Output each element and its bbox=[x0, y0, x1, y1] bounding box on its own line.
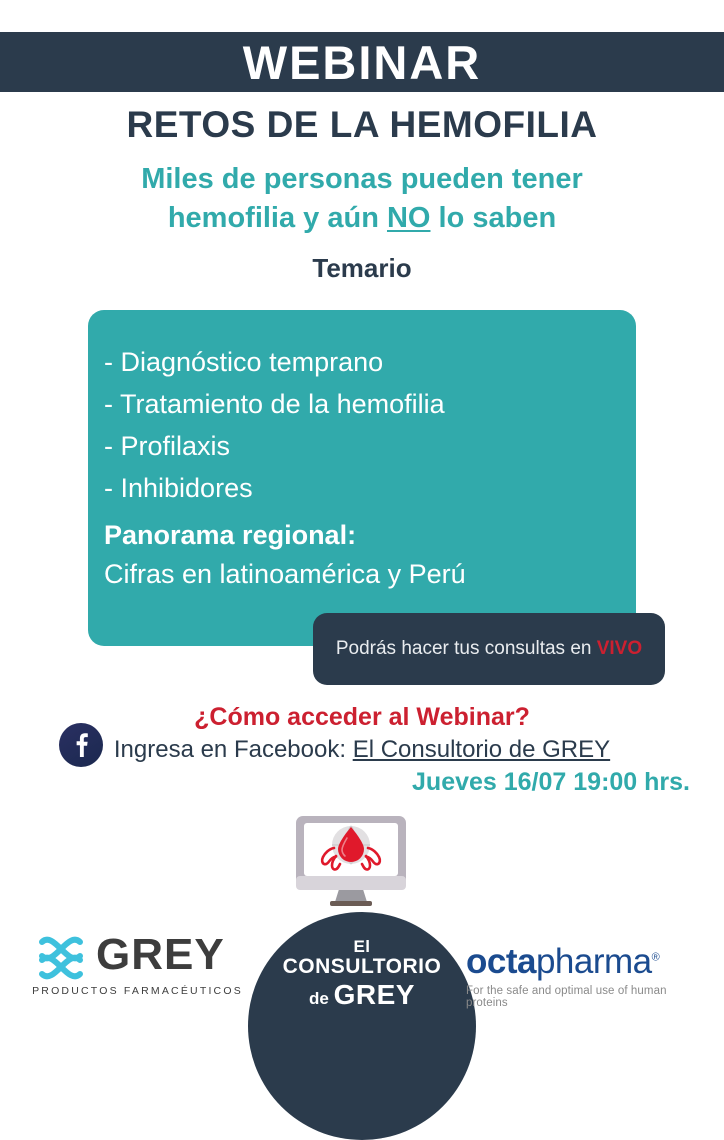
subtitle-line-2-after: lo saben bbox=[430, 202, 556, 234]
access-instruction: Ingresa en Facebook: El Consultorio de G… bbox=[0, 736, 724, 764]
subtitle-line-2-before: hemofilia y aún bbox=[168, 202, 387, 234]
callout-text: Podrás hacer tus consultas en VIVO bbox=[336, 638, 642, 660]
callout-highlight: VIVO bbox=[597, 638, 642, 659]
event-datetime: Jueves 16/07 19:00 hrs. bbox=[0, 768, 690, 797]
agenda-subsection-title: Panorama regional: bbox=[104, 515, 636, 556]
registered-trademark-icon: ® bbox=[652, 951, 660, 963]
octapharma-word-light: pharma bbox=[536, 942, 652, 981]
octapharma-word-bold: octa bbox=[466, 942, 536, 981]
badge-line-1: El bbox=[248, 938, 476, 956]
octapharma-tagline: For the safe and optimal use of human pr… bbox=[466, 985, 706, 1009]
facebook-page-name[interactable]: El Consultorio de GREY bbox=[353, 736, 610, 763]
page-title: RETOS DE LA HEMOFILIA bbox=[0, 104, 724, 146]
grey-tagline: PRODUCTOS FARMACÉUTICOS bbox=[30, 985, 245, 997]
webinar-banner: WEBINAR bbox=[0, 32, 724, 92]
callout-text-before: Podrás hacer tus consultas en bbox=[336, 638, 597, 659]
badge-line-3: de GREY bbox=[248, 980, 476, 1010]
subtitle-line-1: Miles de personas pueden tener bbox=[141, 163, 583, 195]
badge-brand: GREY bbox=[334, 979, 415, 1010]
agenda-item: - Tratamiento de la hemofilia bbox=[104, 384, 636, 426]
badge-line-3-prefix: de bbox=[309, 989, 334, 1008]
grey-wordmark: GREY bbox=[96, 930, 225, 980]
badge-line-2: CONSULTORIO bbox=[248, 956, 476, 979]
agenda-item: - Profilaxis bbox=[104, 426, 636, 468]
access-instruction-before: Ingresa en Facebook: bbox=[114, 736, 353, 763]
agenda-item: - Diagnóstico temprano bbox=[104, 342, 636, 384]
agenda-heading: Temario bbox=[0, 253, 724, 284]
subtitle-emphasis: NO bbox=[387, 202, 431, 234]
agenda-subsection-text: Cifras en latinoamérica y Perú bbox=[104, 556, 636, 594]
consultorio-badge-text: El CONSULTORIO de GREY bbox=[248, 938, 476, 1010]
subtitle: Miles de personas pueden tener hemofilia… bbox=[52, 160, 672, 238]
octapharma-logo: octapharma® For the safe and optimal use… bbox=[466, 944, 706, 1009]
monitor-with-blood-drop-and-hands-icon bbox=[290, 812, 412, 916]
octapharma-wordmark: octapharma® bbox=[466, 944, 706, 979]
agenda-card: - Diagnóstico temprano - Tratamiento de … bbox=[88, 310, 636, 646]
agenda-item: - Inhibidores bbox=[104, 468, 636, 510]
live-questions-callout: Podrás hacer tus consultas en VIVO bbox=[313, 613, 665, 685]
banner-title: WEBINAR bbox=[243, 39, 482, 86]
access-question: ¿Cómo acceder al Webinar? bbox=[0, 703, 724, 732]
